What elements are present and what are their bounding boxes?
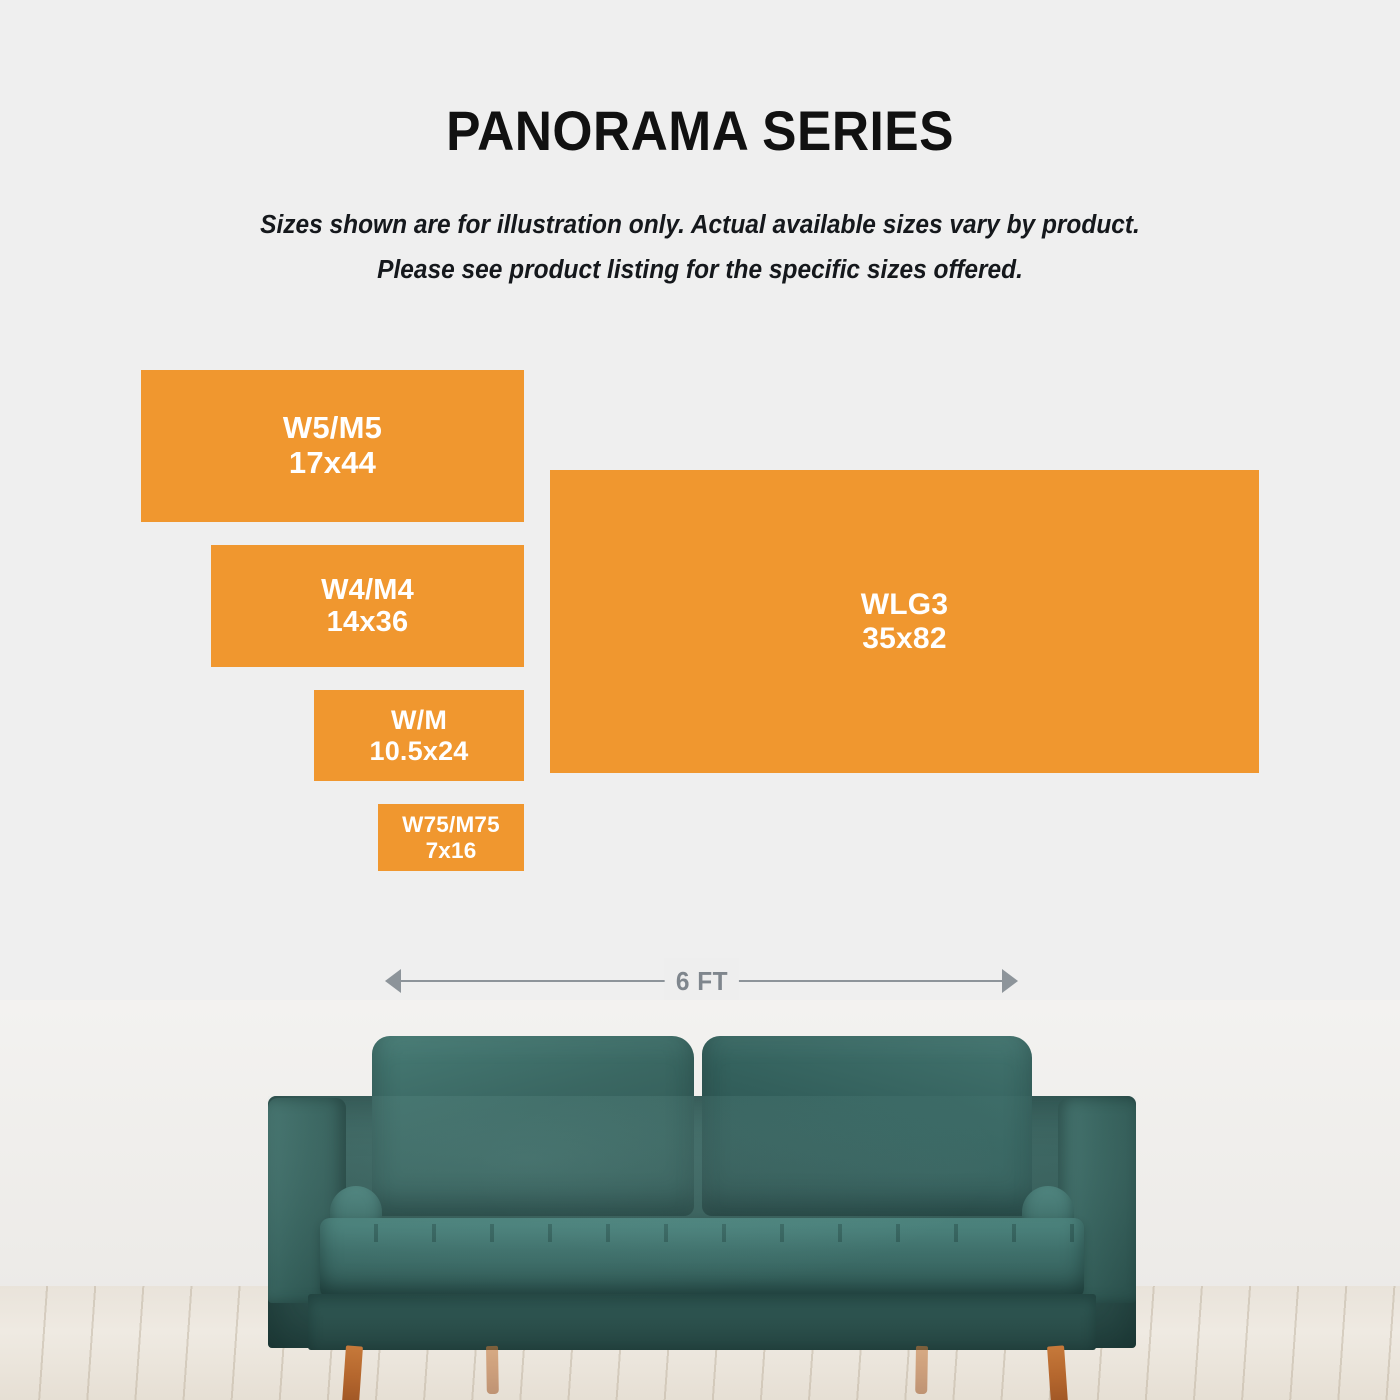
size-code: W/M [391,705,447,735]
measure-label: 6 FT [664,958,739,1006]
size-dimensions: 17x44 [289,446,376,481]
subtitle-line-2: Please see product listing for the speci… [28,248,1372,293]
size-swatch-w4m4: W4/M4 14x36 [211,545,524,667]
sofa-leg [915,1346,928,1394]
size-code: W4/M4 [321,574,414,606]
subtitle-line-1: Sizes shown are for illustration only. A… [28,203,1372,248]
page-title: PANORAMA SERIES [56,98,1344,163]
sofa-reference-photo [0,1000,1400,1400]
size-dimensions: 35x82 [862,622,946,656]
size-swatch-w75m75: W75/M75 7x16 [378,804,524,871]
size-dimensions: 10.5x24 [370,736,469,766]
sofa-back-cushion-right [702,1036,1032,1216]
sofa-back-cushion-left [372,1036,694,1216]
sofa-seat-cushion [320,1218,1084,1300]
size-guide-graphic: PANORAMA SERIES Sizes shown are for illu… [0,0,1400,1400]
size-code: W5/M5 [283,411,382,446]
page-subtitle: Sizes shown are for illustration only. A… [28,203,1372,293]
size-swatch-wm: W/M 10.5x24 [314,690,524,781]
sofa-base [308,1294,1096,1350]
measurement-dimension-line: 6 FT [385,958,1018,1004]
sofa-leg [486,1346,499,1394]
arrow-right-icon [1002,969,1018,993]
size-dimensions: 14x36 [327,606,409,638]
size-dimensions: 7x16 [426,838,477,863]
size-swatch-w5m5: W5/M5 17x44 [141,370,524,522]
size-swatch-wlg3: WLG3 35x82 [550,470,1259,773]
size-code: W75/M75 [402,812,500,837]
green-velvet-sofa [268,1018,1136,1348]
sofa-leg [342,1345,363,1400]
size-code: WLG3 [861,588,948,622]
